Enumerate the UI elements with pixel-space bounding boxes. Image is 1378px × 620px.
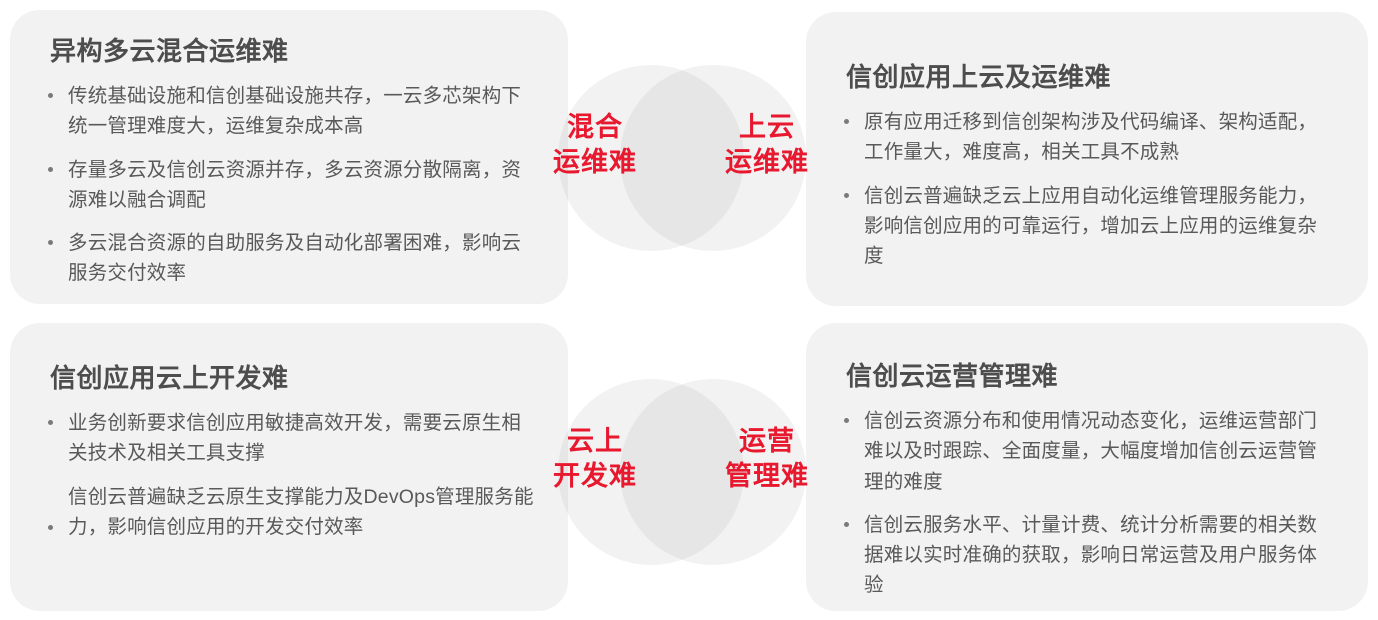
- card-title: 信创应用云上开发难: [50, 363, 534, 394]
- bullet-dot-icon: [844, 418, 849, 423]
- card-title: 信创云运营管理难: [846, 361, 1334, 392]
- venn-label-line2: 开发难: [520, 459, 670, 494]
- card-xinchuang-cloud-operations-management: 信创云运营管理难 信创云资源分布和使用情况动态变化，运维运营部门难以及时跟踪、全…: [806, 323, 1368, 611]
- bullet-dot-icon: [844, 522, 849, 527]
- venn-label-hybrid-ops: 混合 运维难: [520, 110, 670, 179]
- list-item-text: 多云混合资源的自助服务及自动化部署困难，影响云服务交付效率: [68, 232, 521, 284]
- venn-label-cloud-migration-ops: 上云 运维难: [692, 110, 842, 179]
- venn-label-line2: 运维难: [520, 145, 670, 180]
- infographic-canvas: 异构多云混合运维难 传统基础设施和信创基础设施共存，一云多芯架构下统一管理难度大…: [0, 0, 1378, 620]
- bullet-list: 原有应用迁移到信创架构涉及代码编译、架构适配，工作量大，难度高，相关工具不成熟 …: [840, 107, 1334, 271]
- venn-label-line1: 运营: [739, 426, 795, 456]
- list-item: 信创云普遍缺乏云上应用自动化运维管理服务能力，影响信创应用的可靠运行，增加云上应…: [840, 181, 1334, 272]
- list-item-text: 信创云资源分布和使用情况动态变化，运维运营部门难以及时跟踪、全面度量，大幅度增加…: [864, 410, 1317, 492]
- card-xinchuang-app-cloud-migration-ops: 信创应用上云及运维难 原有应用迁移到信创架构涉及代码编译、架构适配，工作量大，难…: [806, 12, 1368, 306]
- card-title: 异构多云混合运维难: [50, 36, 534, 67]
- venn-diagram-bottom: 云上 开发难 运营 管理难: [558, 372, 806, 572]
- list-item: 信创云普遍缺乏云原生支撑能力及DevOps管理服务能力，影响信创应用的开发交付效…: [44, 482, 534, 542]
- list-item-text: 原有应用迁移到信创架构涉及代码编译、架构适配，工作量大，难度高，相关工具不成熟: [864, 111, 1317, 163]
- list-item-text: 业务创新要求信创应用敏捷高效开发，需要云原生相关技术及相关工具支撑: [68, 412, 521, 464]
- bullet-dot-icon: [48, 93, 53, 98]
- card-heterogeneous-multicloud-ops: 异构多云混合运维难 传统基础设施和信创基础设施共存，一云多芯架构下统一管理难度大…: [10, 10, 568, 304]
- venn-label-line2: 运维难: [692, 145, 842, 180]
- list-item: 信创云服务水平、计量计费、统计分析需要的相关数据难以实时准确的获取，影响日常运营…: [840, 510, 1334, 601]
- list-item: 传统基础设施和信创基础设施共存，一云多芯架构下统一管理难度大，运维复杂成本高: [44, 81, 534, 141]
- list-item: 多云混合资源的自助服务及自动化部署困难，影响云服务交付效率: [44, 228, 534, 288]
- list-item-text: 存量多云及信创云资源并存，多云资源分散隔离，资源难以融合调配: [68, 159, 521, 211]
- bullet-dot-icon: [844, 193, 849, 198]
- list-item: 原有应用迁移到信创架构涉及代码编译、架构适配，工作量大，难度高，相关工具不成熟: [840, 107, 1334, 167]
- venn-label-line1: 云上: [567, 426, 623, 456]
- bullet-dot-icon: [48, 420, 53, 425]
- bullet-list: 业务创新要求信创应用敏捷高效开发，需要云原生相关技术及相关工具支撑 信创云普遍缺…: [44, 408, 534, 542]
- list-item: 存量多云及信创云资源并存，多云资源分散隔离，资源难以融合调配: [44, 155, 534, 215]
- venn-label-line1: 混合: [567, 112, 623, 142]
- bullet-dot-icon: [48, 240, 53, 245]
- list-item-text: 信创云普遍缺乏云上应用自动化运维管理服务能力，影响信创应用的可靠运行，增加云上应…: [864, 185, 1317, 267]
- venn-label-operations-management: 运营 管理难: [692, 424, 842, 493]
- venn-label-cloud-development: 云上 开发难: [520, 424, 670, 493]
- list-item: 业务创新要求信创应用敏捷高效开发，需要云原生相关技术及相关工具支撑: [44, 408, 534, 468]
- card-title: 信创应用上云及运维难: [846, 62, 1334, 93]
- card-xinchuang-app-cloud-development: 信创应用云上开发难 业务创新要求信创应用敏捷高效开发，需要云原生相关技术及相关工…: [10, 323, 568, 611]
- list-item-text: 信创云服务水平、计量计费、统计分析需要的相关数据难以实时准确的获取，影响日常运营…: [864, 514, 1317, 596]
- bullet-dot-icon: [844, 119, 849, 124]
- bullet-dot-icon: [48, 525, 53, 530]
- bullet-list: 信创云资源分布和使用情况动态变化，运维运营部门难以及时跟踪、全面度量，大幅度增加…: [840, 406, 1334, 600]
- list-item: 信创云资源分布和使用情况动态变化，运维运营部门难以及时跟踪、全面度量，大幅度增加…: [840, 406, 1334, 497]
- venn-label-line2: 管理难: [692, 459, 842, 494]
- venn-label-line1: 上云: [739, 112, 795, 142]
- list-item-text: 传统基础设施和信创基础设施共存，一云多芯架构下统一管理难度大，运维复杂成本高: [68, 85, 521, 137]
- bullet-dot-icon: [48, 167, 53, 172]
- list-item-text: 信创云普遍缺乏云原生支撑能力及DevOps管理服务能力，影响信创应用的开发交付效…: [68, 486, 534, 538]
- bullet-list: 传统基础设施和信创基础设施共存，一云多芯架构下统一管理难度大，运维复杂成本高 存…: [44, 81, 534, 288]
- venn-diagram-top: 混合 运维难 上云 运维难: [558, 58, 806, 258]
